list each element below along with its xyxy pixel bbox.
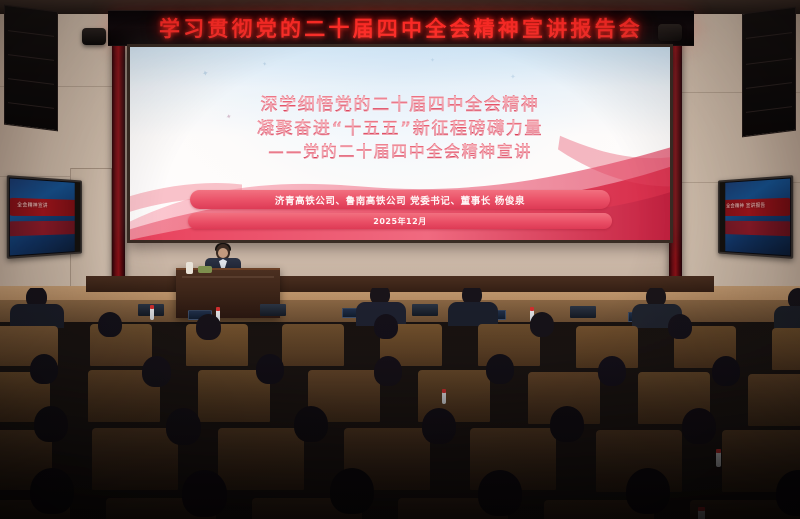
- audience-head: [712, 356, 740, 386]
- seat: [282, 324, 344, 366]
- podium-cup: [186, 262, 193, 274]
- side-monitor-left: 全会精神宣讲: [7, 175, 82, 259]
- audience-head: [682, 408, 716, 444]
- side-monitor-right-text: 全会精神 宣讲报告: [726, 201, 785, 209]
- seat: [92, 428, 178, 490]
- desk-laptop: [412, 304, 438, 316]
- projector-icon: [82, 28, 106, 45]
- audience-head: [550, 406, 584, 442]
- date-badge: 2025年12月: [188, 213, 612, 229]
- audience-head: [256, 354, 284, 384]
- desk-laptop: [570, 306, 596, 318]
- audience-head: [486, 354, 514, 384]
- monitor-bezel: [720, 182, 726, 252]
- presentation-slide: ✦ ✦ ✦ ✦ ✦: [130, 47, 670, 240]
- side-monitor-left-screen: 全会精神宣讲: [10, 179, 80, 256]
- audience-head: [668, 314, 692, 339]
- audience-head: [294, 406, 328, 442]
- conference-hall-photo: 学习贯彻党的二十届四中全会精神宣讲报告会 全会精神宣讲 全会精神 宣讲报告 ✦: [0, 0, 800, 519]
- seat: [748, 374, 800, 426]
- audience-head: [166, 408, 201, 445]
- led-banner: 学习贯彻党的二十届四中全会精神宣讲报告会: [108, 10, 694, 46]
- audience-head: [30, 354, 58, 384]
- bird-icon: ✦: [430, 57, 435, 64]
- stage-curtain-left: [112, 28, 125, 286]
- loudspeaker-icon: [742, 7, 796, 138]
- monitor-band: [10, 221, 80, 237]
- audience-head: [98, 312, 122, 337]
- audience-shoulders: [448, 302, 498, 326]
- led-banner-text: 学习贯彻党的二十届四中全会精神宣讲报告会: [159, 13, 643, 43]
- speaker-face: [218, 248, 228, 258]
- water-bottle: [442, 392, 446, 404]
- water-bottle: [150, 308, 154, 320]
- audience-head: [196, 314, 221, 340]
- audience-shoulders: [774, 306, 800, 330]
- audience-head: [142, 356, 171, 387]
- audience-area: [0, 288, 800, 519]
- monitor-bezel: [75, 182, 81, 252]
- water-bottle: [698, 510, 705, 519]
- bird-icon: ✦: [201, 68, 209, 78]
- seat: [218, 428, 304, 490]
- audience-head: [34, 406, 68, 442]
- side-monitor-right-screen: 全会精神 宣讲报告: [720, 179, 790, 256]
- audience-head: [478, 470, 522, 516]
- slide-title-block: 深学细悟党的二十届四中全会精神 凝聚奋进“十五五”新征程磅礴力量 ——党的二十届…: [130, 93, 670, 164]
- projection-screen: ✦ ✦ ✦ ✦ ✦: [127, 44, 673, 243]
- audience-head: [30, 468, 74, 514]
- loudspeaker-icon: [4, 5, 58, 132]
- audience-head: [182, 470, 227, 517]
- bird-icon: ✦: [510, 73, 516, 81]
- audience-head: [530, 312, 554, 337]
- audience-head: [598, 356, 626, 386]
- audience-head: [374, 314, 398, 339]
- side-monitor-left-text: 全会精神宣讲: [17, 201, 75, 209]
- projector-icon: [658, 24, 682, 41]
- seat: [772, 328, 800, 370]
- audience-shoulders: [10, 304, 64, 328]
- audience-head: [330, 468, 374, 514]
- side-monitor-right: 全会精神 宣讲报告: [718, 175, 793, 259]
- podium-plant: [198, 266, 212, 273]
- slide-title-line-3: ——党的二十届四中全会精神宣讲: [130, 141, 670, 164]
- bird-icon: ✦: [262, 61, 268, 69]
- water-bottle: [716, 452, 721, 467]
- audience-head: [374, 356, 402, 386]
- presenter-badge: 济青高铁公司、鲁南高铁公司 党委书记、董事长 杨俊泉: [190, 190, 610, 209]
- audience-head: [422, 408, 456, 444]
- monitor-band: [720, 221, 790, 237]
- slide-title-line-1: 深学细悟党的二十届四中全会精神: [130, 93, 670, 117]
- audience-head: [626, 468, 670, 514]
- slide-title-line-2: 凝聚奋进“十五五”新征程磅礴力量: [130, 117, 670, 141]
- desk-laptop: [260, 304, 286, 316]
